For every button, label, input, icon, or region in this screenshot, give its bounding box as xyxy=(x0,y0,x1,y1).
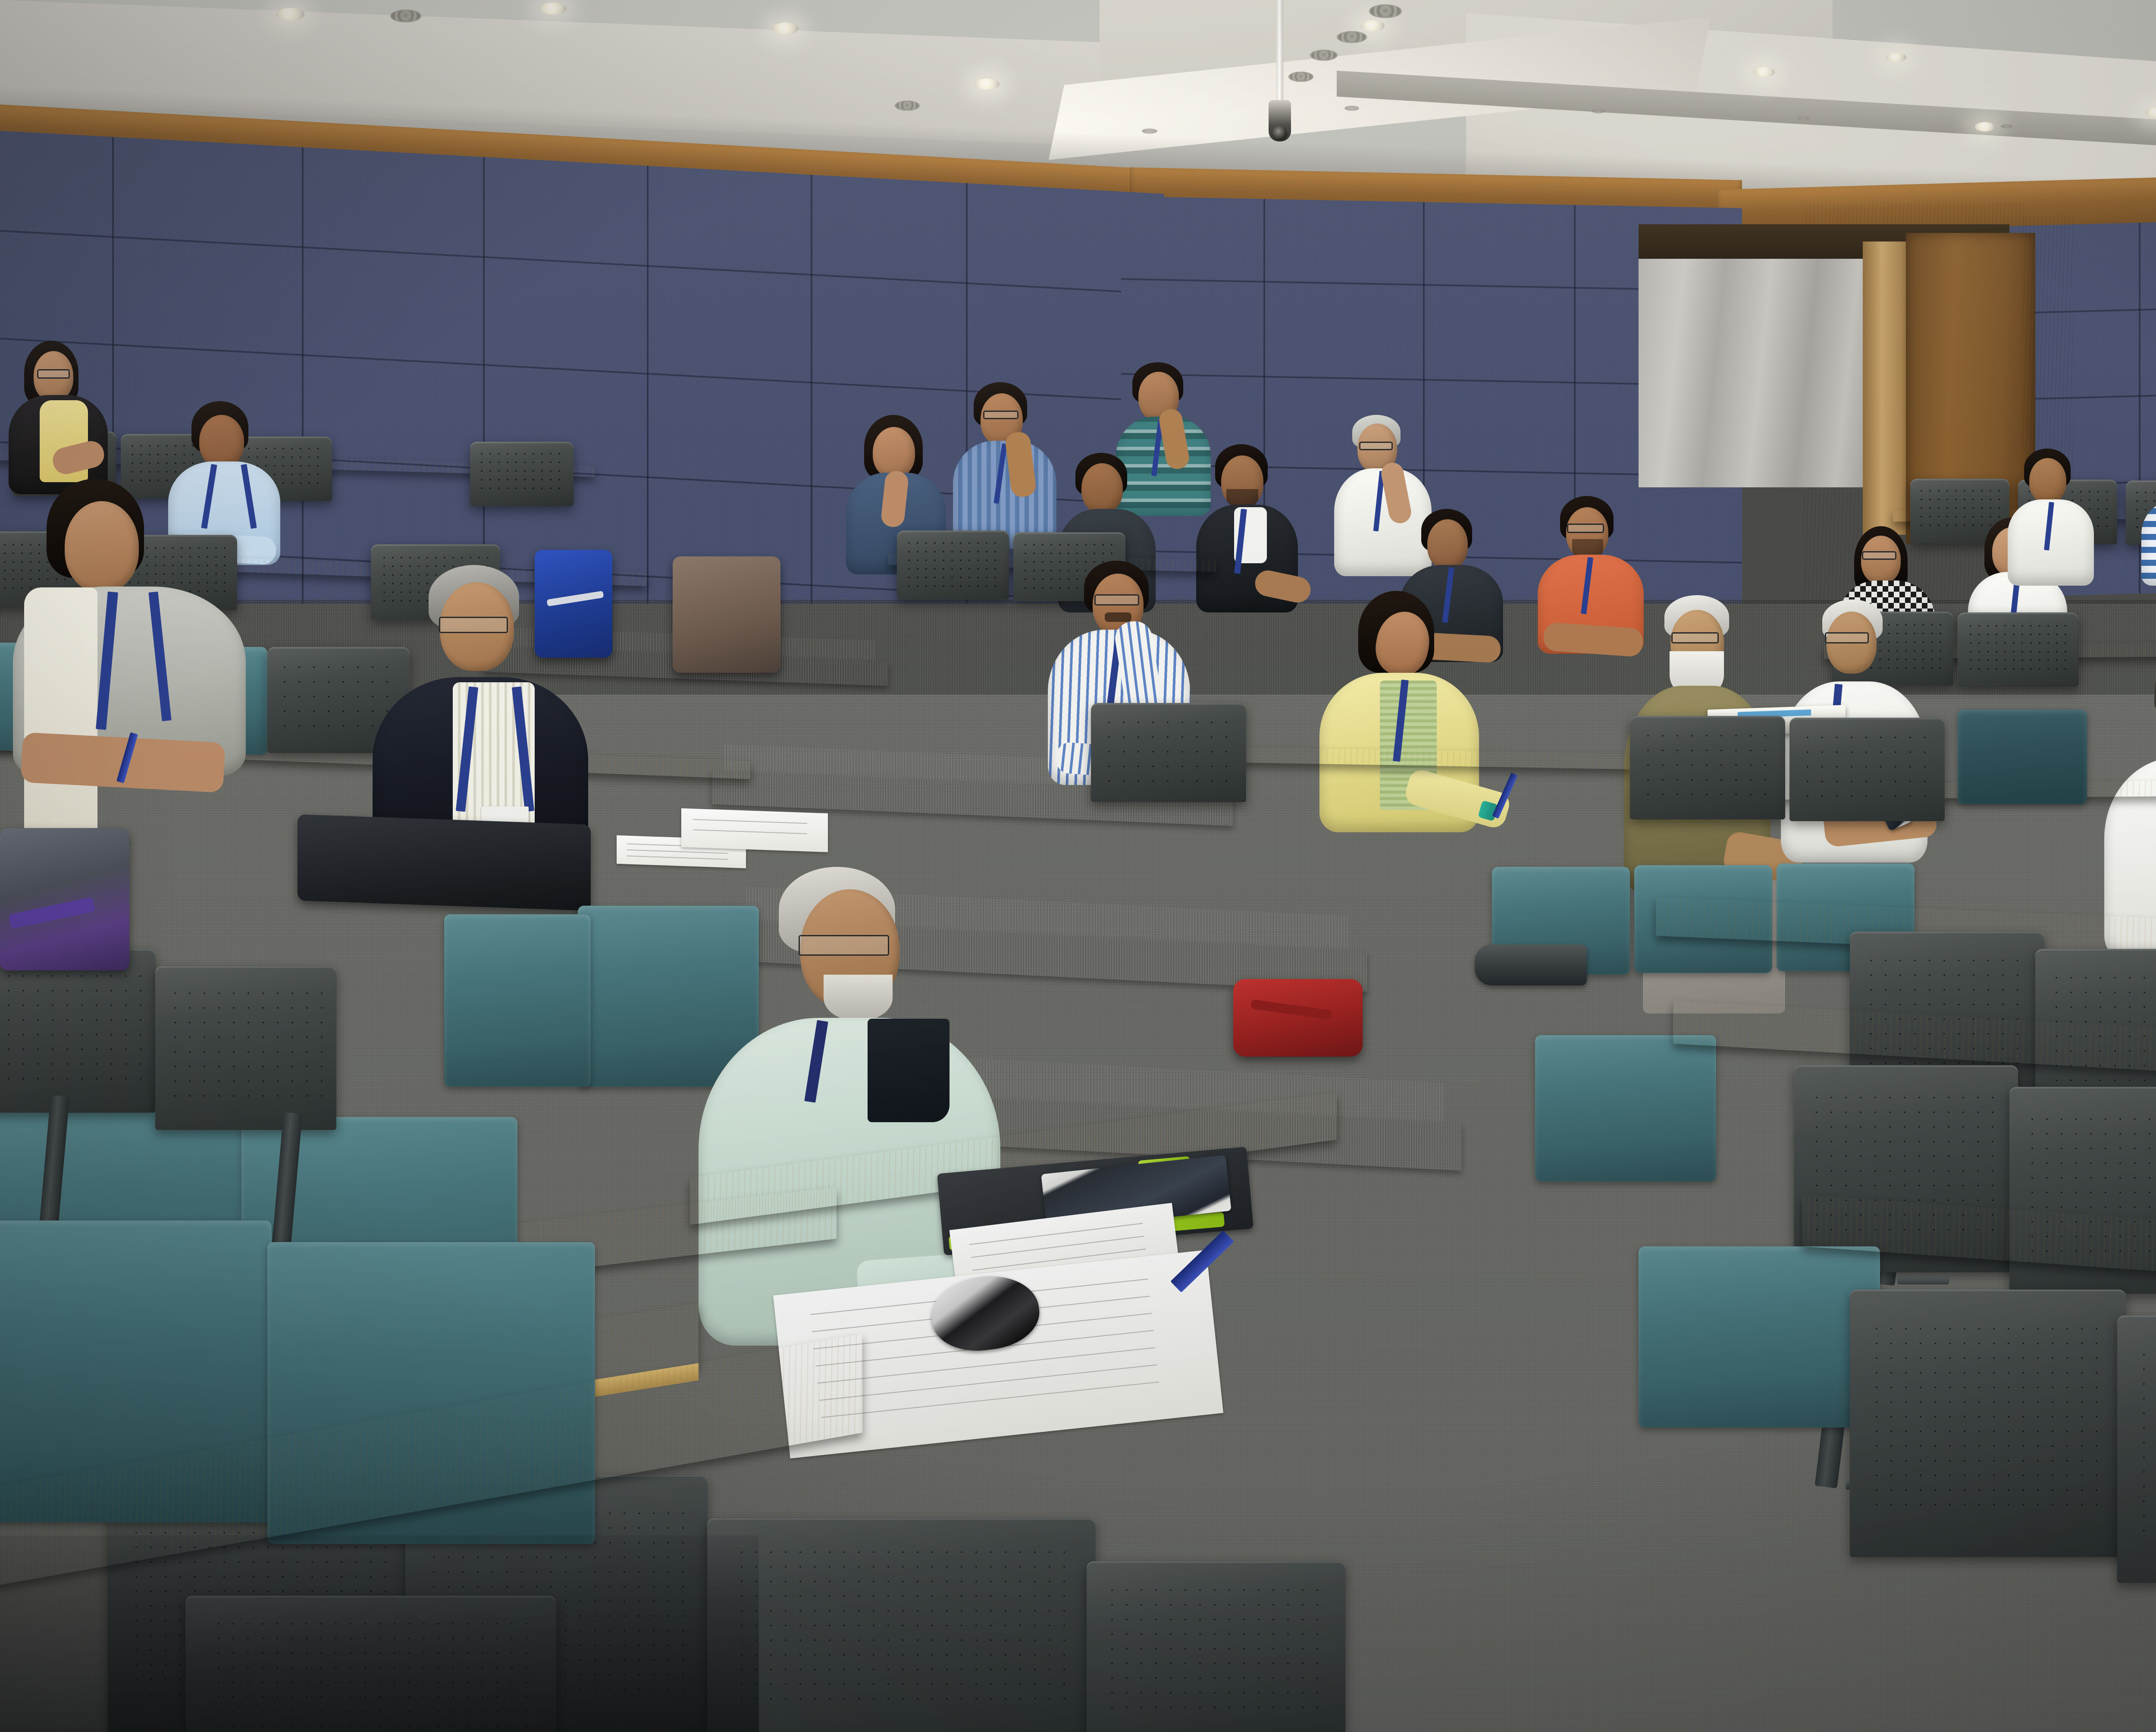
seat-back-bottom-centre[interactable] xyxy=(707,1518,1095,1732)
seat-back[interactable] xyxy=(470,442,573,506)
downlight-icon xyxy=(1886,53,1906,62)
ac-vent-icon xyxy=(1310,50,1338,61)
face xyxy=(1427,519,1468,569)
seat-back[interactable] xyxy=(1630,716,1785,819)
ac-vent-icon xyxy=(1337,31,1367,43)
smoke-detector-icon xyxy=(1344,106,1359,111)
seat-cushion[interactable] xyxy=(444,914,591,1087)
ac-vent-icon xyxy=(895,100,920,111)
face xyxy=(1861,536,1901,584)
brown-backpack xyxy=(673,556,780,673)
glasses-icon xyxy=(1825,632,1869,643)
glasses-icon xyxy=(1862,551,1896,560)
wood-column xyxy=(1863,242,1910,535)
lecture-hall-photograph xyxy=(0,0,2156,1732)
glasses-icon xyxy=(1671,632,1719,643)
seat-back[interactable] xyxy=(155,966,336,1130)
smoke-detector-icon xyxy=(1592,109,1605,113)
seat-back[interactable] xyxy=(0,949,155,1113)
glasses-icon xyxy=(799,935,889,956)
seat-cushion[interactable] xyxy=(1535,1035,1716,1182)
blue-backpack xyxy=(535,550,612,658)
camera-mount-pole xyxy=(1276,0,1283,104)
seat-cushion[interactable] xyxy=(1639,1246,1880,1428)
smoke-detector-icon xyxy=(2001,124,2013,129)
glasses-icon xyxy=(983,411,1018,419)
downlight-icon xyxy=(1360,20,1385,31)
foreground-shadow xyxy=(0,1535,759,1732)
smoke-detector-icon xyxy=(1797,116,1809,121)
seat-cushion[interactable] xyxy=(1958,709,2087,804)
ac-vent-icon xyxy=(1369,4,1402,18)
armrest xyxy=(1475,944,1587,985)
glasses-icon xyxy=(1567,524,1604,533)
black-laptop-bag xyxy=(298,814,591,911)
downlight-icon xyxy=(772,22,799,35)
glasses-icon xyxy=(1359,442,1393,450)
ac-vent-icon xyxy=(390,9,421,22)
smoke-detector-icon xyxy=(1142,129,1157,134)
glasses-icon xyxy=(37,369,70,379)
rear-curtain xyxy=(1639,259,1871,487)
seat-back[interactable] xyxy=(1789,718,1945,821)
downlight-icon xyxy=(539,3,567,15)
seat-back[interactable] xyxy=(2117,1315,2156,1583)
red-bag xyxy=(1233,979,1363,1057)
downlight-icon xyxy=(1753,67,1775,77)
seat-back[interactable] xyxy=(1091,703,1246,802)
face xyxy=(199,415,244,468)
grey-moustache-beard xyxy=(824,975,893,1021)
seat-back[interactable] xyxy=(897,530,1009,599)
face xyxy=(65,501,139,592)
moustache xyxy=(1105,612,1131,622)
glasses-icon xyxy=(439,617,508,633)
downlight-icon xyxy=(276,8,304,21)
downlight-icon xyxy=(975,78,1000,90)
camera-lens-icon xyxy=(1272,126,1287,141)
face xyxy=(2029,458,2066,503)
purple-backpack xyxy=(0,828,129,970)
seat-back-bottom-centre[interactable] xyxy=(1087,1561,1345,1732)
ac-vent-icon xyxy=(1288,72,1313,82)
seat-back[interactable] xyxy=(1958,612,2078,687)
collar-shadow xyxy=(868,1019,950,1122)
downlight-icon xyxy=(1975,122,1995,132)
face xyxy=(1081,463,1123,513)
face xyxy=(873,427,915,478)
glasses-icon xyxy=(1094,594,1139,606)
seat-back[interactable] xyxy=(1850,1290,2126,1557)
paper-sheet-left-desk xyxy=(681,808,828,852)
seat-foot xyxy=(1897,1277,1949,1284)
